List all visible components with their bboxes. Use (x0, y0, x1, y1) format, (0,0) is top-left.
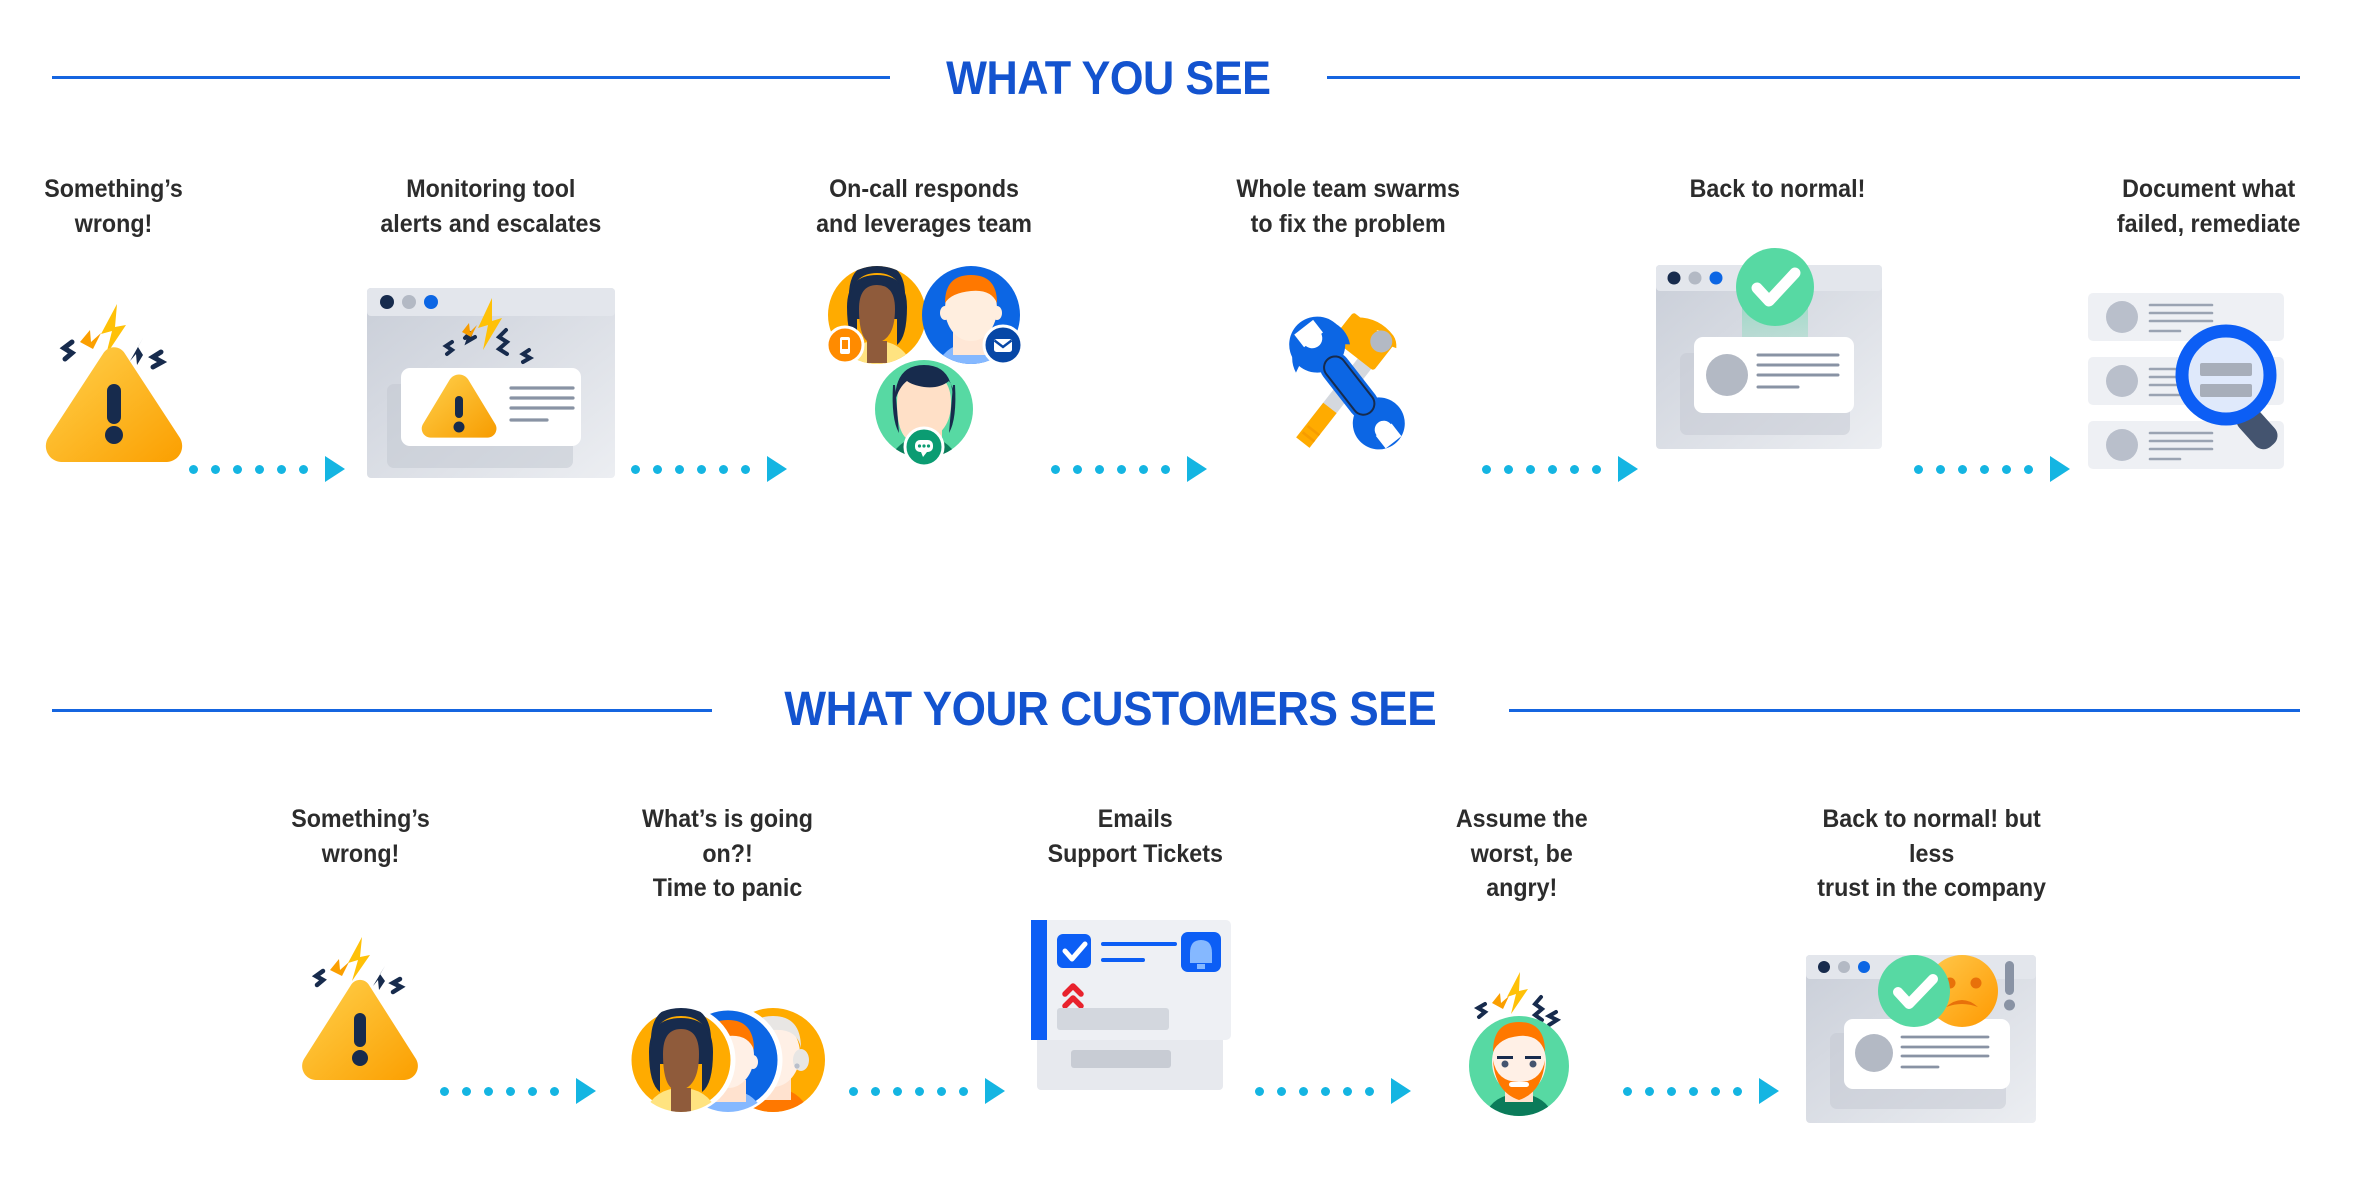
connector-dot (915, 1087, 924, 1096)
connector-dot (1570, 465, 1579, 474)
dotted-arrow-connector (189, 456, 345, 482)
connector-dot (1117, 465, 1126, 474)
connector-dot (2002, 465, 2011, 474)
step-label: Whole team swarms to fix the problem (1236, 172, 1460, 241)
connector-dot (1073, 465, 1082, 474)
connector-dot (506, 1087, 515, 1096)
connector-dot (1526, 465, 1535, 474)
connector-dot (255, 465, 264, 474)
connector-arrowhead (1391, 1078, 1411, 1104)
section-header-what-your-customers-see: WHAT YOUR CUSTOMERS SEE (52, 686, 2300, 734)
connector-dot (1592, 465, 1601, 474)
step-emails-support-tickets: Emails Support Tickets (1023, 802, 1247, 1097)
step-customer-something-wrong: Something’s wrong! (280, 802, 440, 1109)
connector-dot (871, 1087, 880, 1096)
header-rule-right (1509, 709, 2300, 712)
connector-arrowhead (576, 1078, 596, 1104)
connector-dot (1711, 1087, 1720, 1096)
step-monitoring-alerts: Monitoring tool alerts and escalates (361, 172, 621, 493)
connector-dot (440, 1087, 449, 1096)
connector-dot (1343, 1087, 1352, 1096)
connector-dot (528, 1087, 537, 1096)
angry-customer-icon (1457, 944, 1587, 1144)
oncall-avatars-icon (819, 257, 1029, 487)
resolved-unhappy-window-icon (1802, 932, 2060, 1132)
steps-row-what-your-customers-see: Something’s wrong! (280, 802, 2070, 1160)
monitoring-window-icon (361, 263, 621, 493)
connector-dot (937, 1087, 946, 1096)
step-label: Assume the worst, be angry! (1434, 802, 1610, 906)
step-label: Monitoring tool alerts and escalates (381, 172, 602, 241)
connector-dot (1504, 465, 1513, 474)
connector-dot (233, 465, 242, 474)
step-label: Document what failed, remediate (2117, 172, 2301, 241)
connector-arrowhead (325, 456, 345, 482)
step-label: What’s is going on?! Time to panic (620, 802, 835, 906)
connector-dot (550, 1087, 559, 1096)
connector-dot (1936, 465, 1945, 474)
connector-dot (1277, 1087, 1286, 1096)
connector-arrowhead (985, 1078, 1005, 1104)
connector-dot (653, 465, 662, 474)
step-label: Something’s wrong! (44, 172, 183, 241)
connector-dot (1548, 465, 1557, 474)
connector-dot (1161, 465, 1170, 474)
steps-row-what-you-see: Something’s wrong! (24, 172, 2334, 499)
connector-dot (1667, 1087, 1676, 1096)
connector-dot (1255, 1087, 1264, 1096)
connector-dot (2024, 465, 2033, 474)
connector-dot (189, 465, 198, 474)
step-team-swarms: Whole team swarms to fix the problem (1225, 172, 1473, 499)
connector-arrowhead (767, 456, 787, 482)
step-customer-panic: What’s is going on?! Time to panic (612, 802, 843, 1160)
connector-dot (849, 1087, 858, 1096)
postmortem-search-icon (2084, 269, 2334, 499)
warning-triangle-icon (296, 909, 424, 1109)
step-less-trust: Back to normal! but less trust in the co… (1793, 802, 2070, 1132)
connector-dot (277, 465, 286, 474)
dotted-arrow-connector (440, 1078, 596, 1104)
connector-dot (1623, 1087, 1632, 1096)
connector-dot (1321, 1087, 1330, 1096)
header-rule-left (52, 709, 712, 712)
connector-dot (1139, 465, 1148, 474)
connector-dot (211, 465, 220, 474)
connector-dot (1051, 465, 1060, 474)
connector-dot (1914, 465, 1923, 474)
connector-arrowhead (1187, 456, 1207, 482)
dotted-arrow-connector (1623, 1078, 1779, 1104)
section-title-what-your-customers-see: WHAT YOUR CUSTOMERS SEE (784, 686, 1436, 734)
dotted-arrow-connector (1051, 456, 1207, 482)
connector-dot (675, 465, 684, 474)
step-label: On-call responds and leverages team (816, 172, 1032, 241)
step-label: Back to normal! (1689, 172, 1865, 207)
connector-dot (1299, 1087, 1308, 1096)
connector-dot (484, 1087, 493, 1096)
warning-triangle-icon (39, 269, 189, 499)
dotted-arrow-connector (1255, 1078, 1411, 1104)
connector-dot (1980, 465, 1989, 474)
connector-arrowhead (2050, 456, 2070, 482)
resolved-window-icon (1652, 233, 1902, 463)
step-label: Back to normal! but less trust in the co… (1802, 802, 2060, 906)
dotted-arrow-connector (849, 1078, 1005, 1104)
section-title-what-you-see: WHAT YOU SEE (946, 54, 1270, 101)
section-header-what-you-see: WHAT YOU SEE (52, 54, 2300, 101)
connector-dot (1365, 1087, 1374, 1096)
support-ticket-icon (1023, 897, 1247, 1097)
connector-dot (1095, 465, 1104, 474)
connector-arrowhead (1759, 1078, 1779, 1104)
step-oncall-responds: On-call responds and leverages team (807, 172, 1040, 487)
step-label: Emails Support Tickets (1048, 802, 1223, 871)
connector-dot (959, 1087, 968, 1096)
step-assume-the-worst: Assume the worst, be angry! (1427, 802, 1616, 1144)
header-rule-left (52, 76, 890, 79)
connector-arrowhead (1618, 456, 1638, 482)
header-rule-right (1327, 76, 2300, 79)
connector-dot (299, 465, 308, 474)
dotted-arrow-connector (1914, 456, 2070, 482)
dotted-arrow-connector (1482, 456, 1638, 482)
dotted-arrow-connector (631, 456, 787, 482)
hammer-wrench-icon (1262, 269, 1434, 499)
step-back-to-normal: Back to normal! (1652, 172, 1902, 463)
connector-dot (719, 465, 728, 474)
connector-dot (1645, 1087, 1654, 1096)
connector-dot (893, 1087, 902, 1096)
customer-avatars-icon (625, 960, 831, 1160)
connector-dot (697, 465, 706, 474)
connector-dot (462, 1087, 471, 1096)
connector-dot (1482, 465, 1491, 474)
step-something-wrong: Something’s wrong! (24, 172, 203, 499)
step-document-remediate: Document what failed, remediate (2084, 172, 2334, 499)
step-label: Something’s wrong! (291, 802, 430, 871)
connector-dot (1958, 465, 1967, 474)
connector-dot (1689, 1087, 1698, 1096)
connector-dot (1733, 1087, 1742, 1096)
connector-dot (741, 465, 750, 474)
connector-dot (631, 465, 640, 474)
